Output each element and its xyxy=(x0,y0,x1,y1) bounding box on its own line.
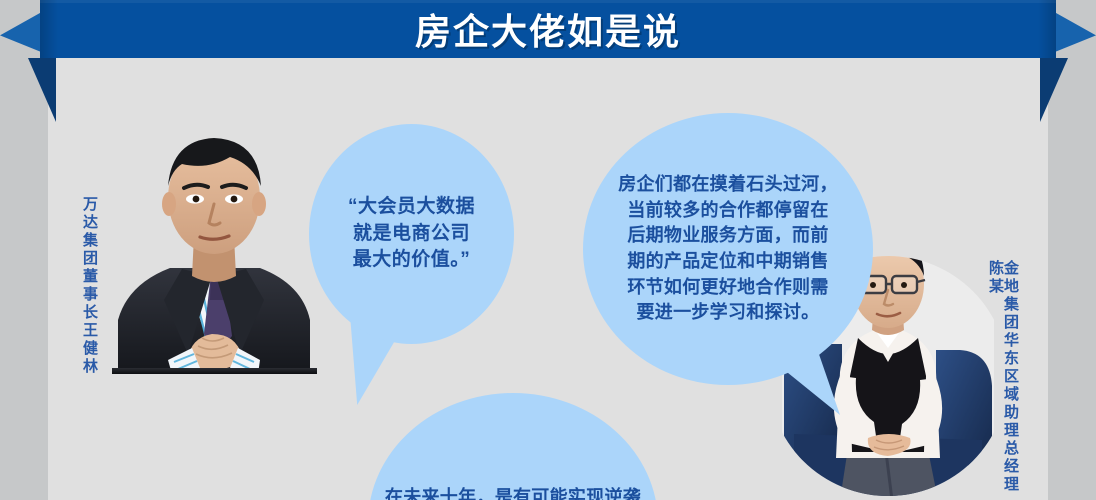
speech-bubble-wang-jianlin: “大会员大数据 就是电商公司 最大的价值。” xyxy=(309,124,514,344)
quote-text-bottom: 在未来十年，是有可能实现逆袭的 xyxy=(368,485,658,500)
speech-bubble-jindi: 房企们都在摸着石头过河， 当前较多的合作都停留在 后期物业服务方面，而前 期的产… xyxy=(583,113,873,385)
quote-text-wang-jianlin: “大会员大数据 就是电商公司 最大的价值。” xyxy=(340,194,483,275)
quote-text-jindi: 房企们都在摸着石头过河， 当前较多的合作都停留在 后期物业服务方面，而前 期的产… xyxy=(610,172,846,325)
ribbon-fold-right xyxy=(1040,58,1068,122)
speaker-label-wang-jianlin: 万达集团董事长王健林 xyxy=(82,196,97,386)
portrait-wang-jianlin xyxy=(112,124,317,374)
speaker-label-jindi: 金地集团华东区域助理总经理陈某 xyxy=(988,260,1018,500)
ribbon-banner: 房企大佬如是说 xyxy=(40,0,1056,58)
page-title: 房企大佬如是说 xyxy=(40,0,1056,58)
infographic-stage: “大会员大数据 就是电商公司 最大的价值。” 房企们都在摸着石头过河， 当前较多… xyxy=(0,0,1096,500)
